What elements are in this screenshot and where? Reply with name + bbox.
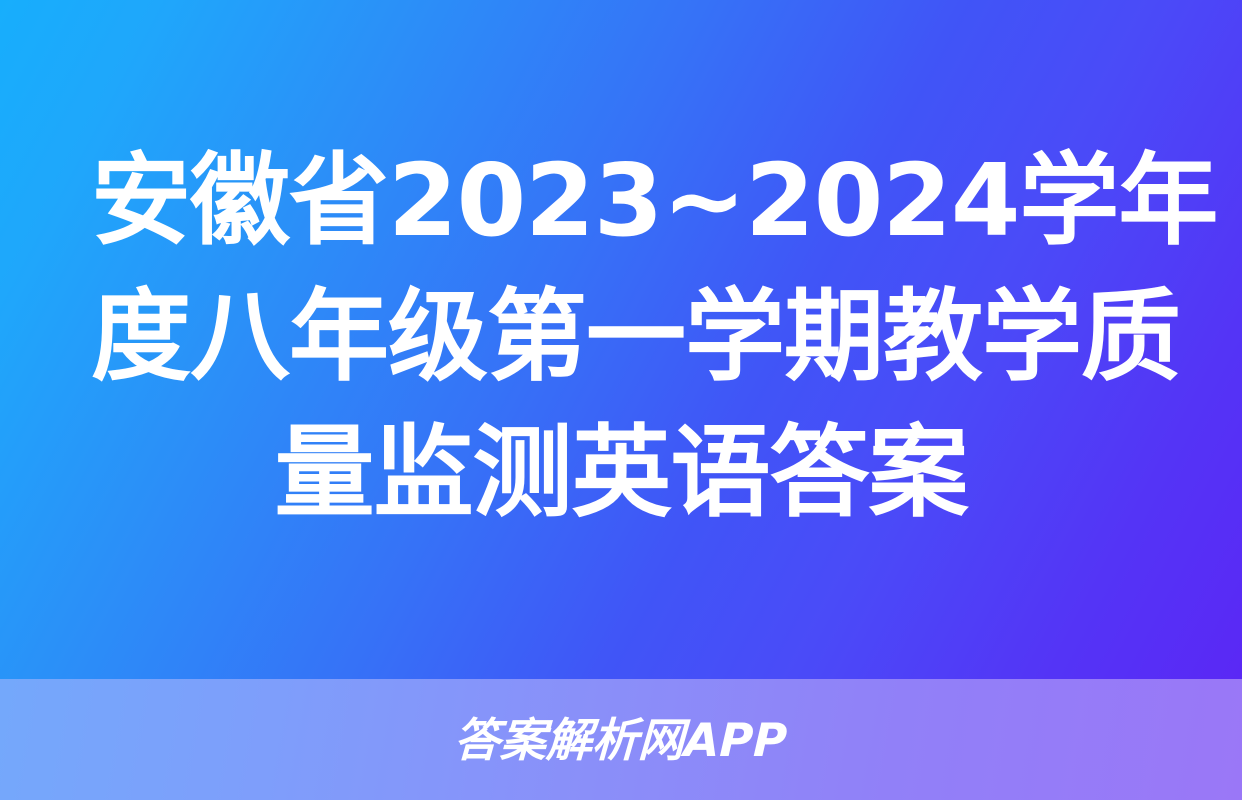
title-line-3: 量监测英语答案 <box>91 405 1151 541</box>
watermark-brand-label: 答案解析网APP <box>454 715 789 765</box>
poster-card: 安徽省2023~2024学年 度八年级第一学期教学质 量监测英语答案 答案解析网… <box>0 0 1242 800</box>
hero-gradient-banner: 安徽省2023~2024学年 度八年级第一学期教学质 量监测英语答案 <box>0 0 1242 679</box>
title-line-1: 安徽省2023~2024学年 <box>91 133 1151 269</box>
title-line-2: 度八年级第一学期教学质 <box>91 269 1151 405</box>
page-title: 安徽省2023~2024学年 度八年级第一学期教学质 量监测英语答案 <box>91 133 1151 547</box>
watermark-band: 答案解析网APP <box>0 679 1242 800</box>
